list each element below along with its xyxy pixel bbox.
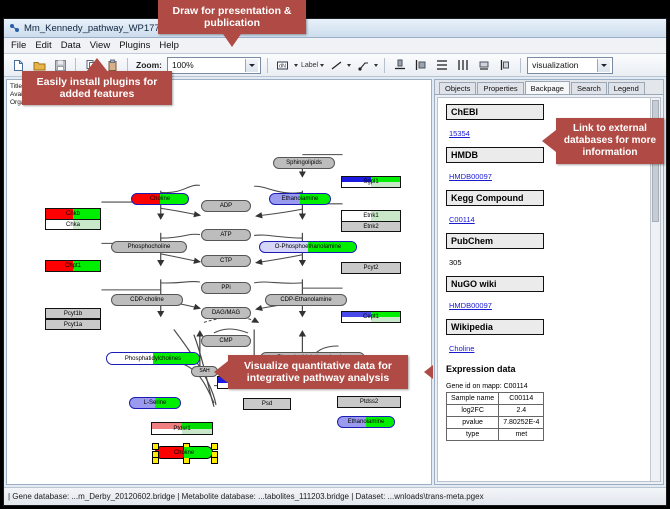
node-label: Chkb [66,211,80,217]
gene-node-chpt1[interactable]: Chpt1 [45,260,101,272]
gene-node-ptdsr1[interactable]: Ptdsr1 [151,422,213,435]
pubchem-header: PubChem [446,233,544,249]
node-label: Phosphocholine [128,244,171,250]
row-value: met [499,429,544,441]
zoom-combo[interactable]: 100% [167,57,261,74]
chevron-down-icon[interactable] [245,59,258,72]
tab-legend[interactable]: Legend [608,82,645,94]
node-label: Etnk1 [363,213,378,219]
link-callout-arrow [542,130,556,152]
metabolite-node-cdp-choline[interactable]: CDP-choline [111,294,183,306]
node-label: Pcyt1a [64,322,82,328]
metabolite-node-o-phosphoethanolamine[interactable]: O-Phosphoethanolamine [259,241,357,253]
selection-handle[interactable] [183,457,190,464]
table-row: log2FC 2.4 [447,405,544,417]
row-key: pvalue [447,417,499,429]
node-label: Ethanolamine [348,419,385,425]
row-value: C00114 [499,393,544,405]
gene-node-cept1[interactable]: Cept1 [341,311,401,323]
metabolite-node-ctp[interactable]: CTP [201,255,251,267]
zoom-label: Zoom: [136,60,162,70]
row-key: Sample name [447,393,499,405]
hmdb-header: HMDB [446,147,544,163]
node-label: Etnk2 [363,224,378,230]
metabolite-node-cmp[interactable]: CMP [201,335,251,347]
nugo-wiki-header: NuGO wiki [446,276,544,292]
zoom-value: 100% [170,60,245,70]
plugins-callout-arrow [86,58,108,72]
selection-handle[interactable] [211,457,218,464]
side-panel-tabs: Objects Properties Backpage Search Legen… [435,80,663,95]
tab-backpage[interactable]: Backpage [525,81,570,94]
plugins-callout-text: Easily install plugins for added feature… [28,76,166,100]
kegg-compound-header: Kegg Compound [446,190,544,206]
node-label: Chka [66,222,80,228]
node-label: ADP [220,203,232,209]
menu-help[interactable]: Help [159,40,179,51]
wikipedia-link[interactable]: Choline [449,344,474,353]
node-label: ATP [220,232,231,238]
node-label: Phosphatidylcholines [125,356,181,362]
row-key: type [447,429,499,441]
draw-callout-text: Draw for presentation & publication [164,5,300,29]
gene-node-ptdss2[interactable]: Ptdss2 [337,396,401,408]
draw-callout-arrow [223,34,241,47]
align-bottom-icon[interactable] [391,56,409,74]
table-row: type met [447,429,544,441]
node-label: Psd [262,401,272,407]
metabolite-node-choline-top[interactable]: Choline [131,193,189,205]
gene-node-etnk2[interactable]: Etnk2 [341,221,401,232]
distribute-icon[interactable] [454,56,472,74]
node-label: Cept1 [363,314,379,320]
label-dropdown-label: Label [301,62,318,69]
metabolite-node-phosphatidylcholines[interactable]: Phosphatidylcholines [106,352,200,365]
status-bar: | Gene database: ...m_Derby_20120602.bri… [4,487,666,505]
stack-vertical-icon[interactable] [433,56,451,74]
metabolite-node-ppi[interactable]: PPi [201,282,251,294]
gene-node-pcyt1a[interactable]: Pcyt1a [45,319,101,330]
visualize-callout-arrow [214,361,228,383]
visualization-combo[interactable]: visualization [527,57,613,74]
link-callout-text: Link to external databases for more info… [562,123,658,159]
menu-plugins[interactable]: Plugins [119,40,150,51]
line-dropdown[interactable] [327,56,351,74]
node-label: Ethanolamine [282,196,319,202]
row-value: 7.80252E-4 [499,417,544,429]
expression-table: Sample name C00114 log2FC 2.4 pvalue 7.8… [446,392,544,441]
gene-node-chka[interactable]: Chka [45,219,101,230]
node-label: CDP-Ethanolamine [280,297,331,303]
gene-node-chkb[interactable]: Chkb [45,208,101,219]
metabolite-node-phosphocholine[interactable]: Phosphocholine [111,241,187,253]
node-label: CDP-choline [130,297,164,303]
hmdb-link[interactable]: HMDB00097 [449,172,492,181]
expression-data-title: Expression data [446,364,660,374]
visualization-value: visualization [530,60,597,70]
node-label: PPi [221,285,230,291]
selection-handle[interactable] [152,457,159,464]
menu-bar: File Edit Data View Plugins Help [4,38,666,54]
node-label: Sgpl1 [363,179,378,185]
gene-node-pcyt1b[interactable]: Pcyt1b [45,308,101,319]
menu-file[interactable]: File [11,40,26,51]
node-label: CTP [220,258,232,264]
node-label: Pcyt2 [363,265,378,271]
gene-id-line: Gene id on mapp: C00114 [446,383,660,390]
title-bar: Mm_Kennedy_pathway_WP1771_45176.gpml [4,19,666,38]
draw-callout: Draw for presentation & publication [158,0,306,34]
node-label: O-Phosphoethanolamine [275,244,341,250]
menu-view[interactable]: View [90,40,110,51]
order-icon[interactable] [496,56,514,74]
visualize-callout-text: Visualize quantitative data for integrat… [234,360,402,384]
metabolite-node-sphingolipids[interactable]: Sphingolipids [273,157,335,169]
wikipedia-header: Wikipedia [446,319,544,335]
node-label: CMP [219,338,232,344]
interaction-dropdown[interactable] [354,56,378,74]
node-label: Choline [150,196,170,202]
gene-node-etnk1[interactable]: Etnk1 [341,210,401,221]
line-icon[interactable] [327,56,345,74]
gene-node-pcyt2[interactable]: Pcyt2 [341,262,401,274]
plugins-callout: Easily install plugins for added feature… [22,71,172,105]
visualize-callout: Visualize quantitative data for integrat… [228,355,408,389]
pubchem-value: 305 [449,258,462,267]
node-label: L-Serine [144,400,167,406]
menu-data[interactable]: Data [61,40,81,51]
interaction-icon[interactable] [354,56,372,74]
tab-search[interactable]: Search [571,82,607,94]
metabolite-node-ethanolamine-1[interactable]: Ethanolamine [269,193,331,205]
metabolite-node-cdp-ethanolamine[interactable]: CDP-Ethanolamine [265,294,347,306]
chebi-link[interactable]: 15354 [449,129,470,138]
node-label: SAH [199,369,209,374]
status-text: | Gene database: ...m_Derby_20120602.bri… [8,492,484,501]
node-label: Pcyt1b [64,311,82,317]
row-value: 2.4 [499,405,544,417]
datanode-icon[interactable]: dN [274,56,292,74]
link-callout: Link to external databases for more info… [556,118,664,164]
metabolite-node-atp[interactable]: ATP [201,229,251,241]
chebi-header: ChEBI [446,104,544,120]
tab-properties[interactable]: Properties [477,82,523,94]
node-label: Choline [174,450,194,456]
node-label: Ptdss2 [360,399,378,405]
align-left-icon[interactable] [412,56,430,74]
table-row: Sample name C00114 [447,393,544,405]
gene-node-sgpl1[interactable]: Sgpl1 [341,176,401,188]
expression-callout-arrow [424,365,433,379]
kegg-compound-link[interactable]: C00114 [449,215,475,224]
label-dropdown[interactable]: Label [301,62,324,69]
chevron-down-icon[interactable] [597,59,610,72]
selection-handle[interactable] [152,443,159,450]
row-key: log2FC [447,405,499,417]
table-row: pvalue 7.80252E-4 [447,417,544,429]
group-icon[interactable] [475,56,493,74]
node-label: Sphingolipids [286,160,322,166]
metabolite-node-dag-mag[interactable]: DAG/MAG [201,307,251,319]
node-label: Chpt1 [65,263,81,269]
node-label: DAG/MAG [212,310,240,316]
metabolite-node-adp[interactable]: ADP [201,200,251,212]
metabolite-node-l-serine-left[interactable]: L-Serine [129,397,181,409]
gene-node-psd[interactable]: Psd [243,398,291,410]
tab-objects[interactable]: Objects [439,82,476,94]
nugo-wiki-link[interactable]: HMDB00097 [449,301,492,310]
svg-text:dN: dN [279,63,286,69]
app-icon [9,23,20,34]
node-label: Ptdsr1 [173,426,190,432]
datanode-dropdown[interactable]: dN [274,56,298,74]
menu-edit[interactable]: Edit [35,40,51,51]
metabolite-node-choline-selected[interactable]: Choline [155,446,213,459]
selection-handle[interactable] [211,443,218,450]
pathway-canvas[interactable]: Title: Availa Organ [6,79,432,485]
metabolite-node-ethanolamine-2[interactable]: Ethanolamine [337,416,395,428]
